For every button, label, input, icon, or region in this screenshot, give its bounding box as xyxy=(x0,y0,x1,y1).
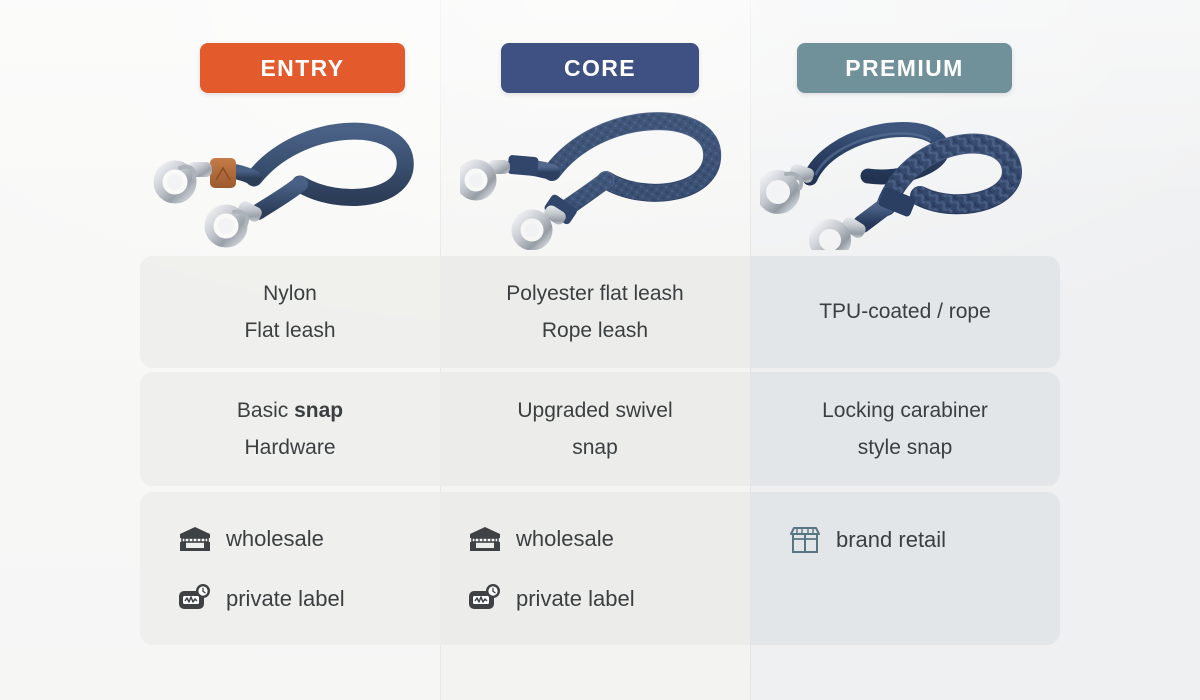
warehouse-icon xyxy=(468,524,502,554)
product-image-core xyxy=(460,100,750,250)
tier-badge-entry-label: ENTRY xyxy=(260,55,344,82)
material-premium-line-1: TPU-coated / rope xyxy=(819,293,991,330)
material-entry-line-2: Flat leash xyxy=(244,312,335,349)
hardware-cell-entry: Basic snap Hardware xyxy=(140,372,440,486)
channel-item-wholesale-core: wholesale xyxy=(468,519,614,558)
hardware-core-line-1: Upgraded swivel xyxy=(517,392,672,429)
tier-header-row: ENTRY CORE PREMIUM xyxy=(0,43,1200,93)
warehouse-icon xyxy=(178,524,212,554)
channel-label-brand-retail-premium: brand retail xyxy=(836,520,946,559)
storefront-icon xyxy=(788,525,822,555)
hardware-entry-prefix: Basic xyxy=(237,399,294,422)
channels-cell-premium: brand retail xyxy=(750,492,1060,645)
tier-badge-core[interactable]: CORE xyxy=(501,43,699,93)
channel-item-brand-retail-premium: brand retail xyxy=(788,520,946,559)
material-cell-entry: Nylon Flat leash xyxy=(140,256,440,368)
hardware-cell-premium: Locking carabiner style snap xyxy=(750,372,1060,486)
channel-label-wholesale-entry: wholesale xyxy=(226,519,324,558)
channel-label-private-label-core: private label xyxy=(516,579,635,618)
price-tag-icon xyxy=(178,583,212,613)
price-tag-icon xyxy=(468,583,502,613)
material-core-line-1: Polyester flat leash xyxy=(506,275,683,312)
channel-label-wholesale-core: wholesale xyxy=(516,519,614,558)
product-photo-row xyxy=(0,100,1200,250)
channel-label-private-label-entry: private label xyxy=(226,579,345,618)
channels-cell-core: wholesale private label xyxy=(440,492,750,645)
spec-row-hardware: Basic snap Hardware Upgraded swivel snap… xyxy=(140,372,1060,486)
spec-row-material: Nylon Flat leash Polyester flat leash Ro… xyxy=(140,256,1060,368)
hardware-cell-core: Upgraded swivel snap xyxy=(440,372,750,486)
product-image-entry xyxy=(150,100,450,250)
hardware-entry-line-1: Basic snap xyxy=(237,392,343,429)
snap-hook-left xyxy=(460,160,510,196)
material-core-line-2: Rope leash xyxy=(542,312,648,349)
material-entry-line-1: Nylon xyxy=(263,275,317,312)
tier-badge-premium-label: PREMIUM xyxy=(845,55,963,82)
hardware-premium-line-2: style snap xyxy=(858,429,953,466)
channel-item-wholesale-entry: wholesale xyxy=(178,519,324,558)
hardware-entry-emphasis: snap xyxy=(294,399,343,422)
tier-badge-entry[interactable]: ENTRY xyxy=(200,43,405,93)
product-image-premium xyxy=(760,100,1050,250)
spec-row-channels: wholesale private label xyxy=(140,492,1060,645)
channel-item-private-label-core: private label xyxy=(468,579,635,618)
channel-item-private-label-entry: private label xyxy=(178,579,345,618)
material-cell-premium: TPU-coated / rope xyxy=(750,256,1060,368)
carabiner-snap-left xyxy=(761,163,816,209)
tier-badge-core-label: CORE xyxy=(564,55,636,82)
snap-hook-left xyxy=(158,162,212,199)
hardware-core-line-2: snap xyxy=(572,429,618,466)
material-cell-core: Polyester flat leash Rope leash xyxy=(440,256,750,368)
tier-comparison-page: ENTRY CORE PREMIUM xyxy=(0,0,1200,700)
tier-badge-premium[interactable]: PREMIUM xyxy=(797,43,1012,93)
channels-cell-entry: wholesale private label xyxy=(140,492,440,645)
hardware-entry-line-2: Hardware xyxy=(244,429,335,466)
hardware-premium-line-1: Locking carabiner xyxy=(822,392,988,429)
